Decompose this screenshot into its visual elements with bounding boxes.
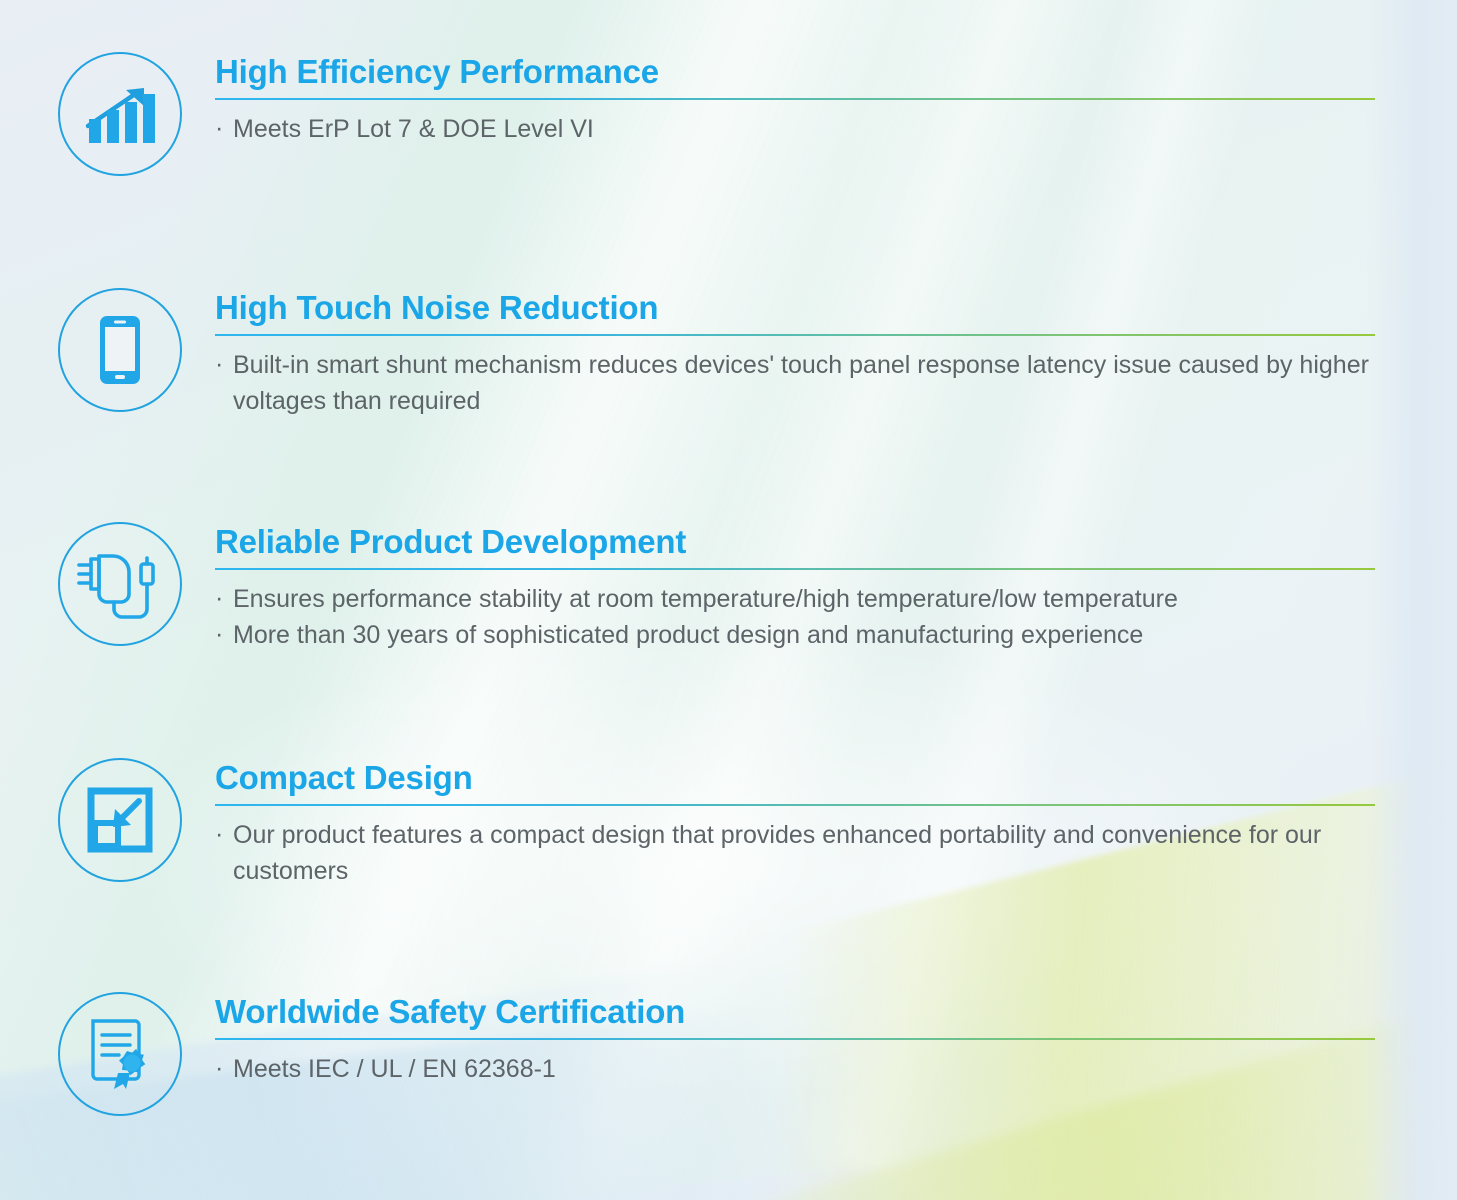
certificate-seal-icon: [58, 992, 182, 1116]
feature-bullet: Ensures performance stability at room te…: [215, 581, 1375, 617]
feature-icon-container: [58, 758, 182, 882]
feature-divider: [215, 804, 1375, 806]
feature-title: Reliable Product Development: [215, 522, 1375, 562]
feature-bullet: Built-in smart shunt mechanism reduces d…: [215, 347, 1375, 419]
feature-bullet-list: Ensures performance stability at room te…: [215, 581, 1375, 653]
smartphone-icon: [58, 288, 182, 412]
feature-icon-container: [58, 992, 182, 1116]
feature-text-block: High Efficiency Performance Meets ErP Lo…: [215, 52, 1375, 147]
feature-icon-container: [58, 522, 182, 646]
feature-bullet-list: Meets ErP Lot 7 & DOE Level VI: [215, 111, 1375, 147]
feature-divider: [215, 568, 1375, 570]
bar-chart-growth-icon: [58, 52, 182, 176]
feature-title: High Efficiency Performance: [215, 52, 1375, 92]
feature-bullet-list: Our product features a compact design th…: [215, 817, 1375, 889]
feature-bullet: Meets ErP Lot 7 & DOE Level VI: [215, 111, 1375, 147]
feature-text-block: High Touch Noise Reduction Built-in smar…: [215, 288, 1375, 419]
compact-resize-icon: [58, 758, 182, 882]
feature-text-block: Compact Design Our product features a co…: [215, 758, 1375, 889]
feature-icon-container: [58, 288, 182, 412]
feature-bullet-list: Built-in smart shunt mechanism reduces d…: [215, 347, 1375, 419]
feature-divider: [215, 98, 1375, 100]
feature-text-block: Worldwide Safety Certification Meets IEC…: [215, 992, 1375, 1087]
feature-text-block: Reliable Product Development Ensures per…: [215, 522, 1375, 653]
feature-bullet: Our product features a compact design th…: [215, 817, 1375, 889]
feature-title: Worldwide Safety Certification: [215, 992, 1375, 1032]
feature-divider: [215, 1038, 1375, 1040]
feature-icon-container: [58, 52, 182, 176]
power-adapter-icon: [58, 522, 182, 646]
background-right-band: [1365, 0, 1457, 1200]
feature-bullet-list: Meets IEC / UL / EN 62368-1: [215, 1051, 1375, 1087]
feature-divider: [215, 334, 1375, 336]
feature-title: Compact Design: [215, 758, 1375, 798]
feature-title: High Touch Noise Reduction: [215, 288, 1375, 328]
feature-bullet: Meets IEC / UL / EN 62368-1: [215, 1051, 1375, 1087]
feature-bullet: More than 30 years of sophisticated prod…: [215, 617, 1375, 653]
feature-highlights-page: High Efficiency Performance Meets ErP Lo…: [0, 0, 1457, 1200]
